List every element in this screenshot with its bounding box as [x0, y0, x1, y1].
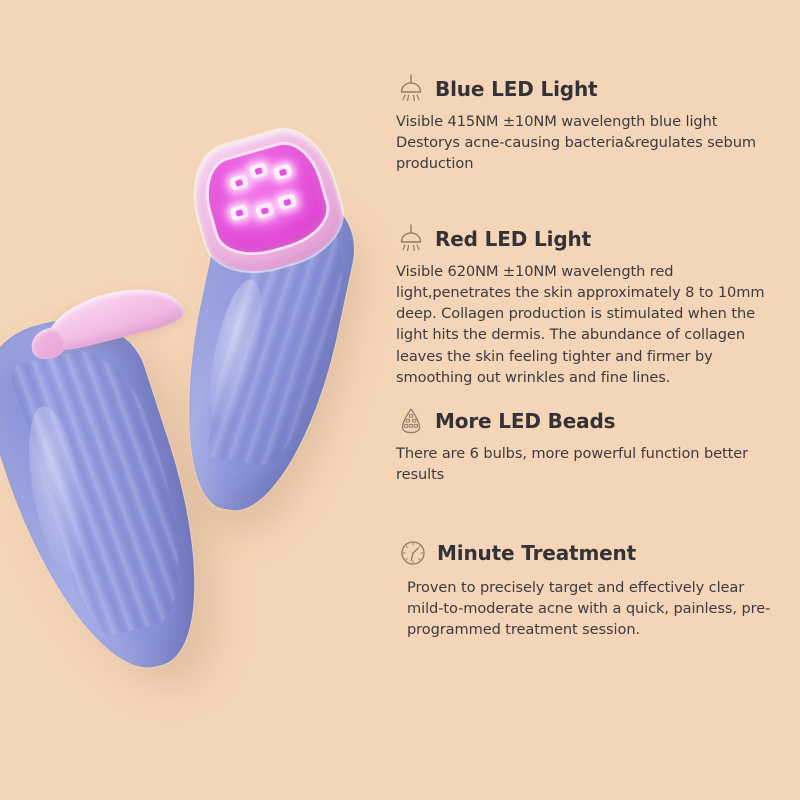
feature-item-blue-led-light: Blue LED Light Visible 415NM ±10NM wavel… [396, 72, 788, 174]
feature-item-red-led-light: Red LED Light Visible 620NM ±10NM wavele… [396, 222, 788, 388]
clock-icon [398, 537, 428, 569]
led-bead [229, 204, 249, 221]
feature-title: Minute Treatment [437, 541, 636, 565]
feature-item-more-led-beads: More LED Beads There are 6 bulbs, more p… [396, 404, 788, 485]
product-image-stage [0, 0, 380, 800]
feature-header: Minute Treatment [396, 536, 788, 570]
feature-description: Visible 620NM ±10NM wavelength red light… [396, 261, 774, 388]
led-bead [277, 193, 297, 210]
feature-header: More LED Beads [396, 404, 788, 438]
feature-title: Blue LED Light [435, 77, 597, 101]
feature-header: Red LED Light [396, 222, 788, 256]
feature-description: There are 6 bulbs, more powerful functio… [396, 443, 786, 485]
feature-title: More LED Beads [435, 409, 615, 433]
feature-list: Blue LED Light Visible 415NM ±10NM wavel… [396, 0, 800, 800]
infographic-page: Blue LED Light Visible 415NM ±10NM wavel… [0, 0, 800, 800]
feature-description: Visible 415NM ±10NM wavelength blue ligh… [396, 111, 766, 174]
led-bead [229, 174, 249, 191]
led-bead [249, 162, 269, 179]
feature-item-minute-treatment: Minute Treatment Proven to precisely tar… [396, 536, 788, 640]
feature-header: Blue LED Light [396, 72, 788, 106]
feature-description: Proven to precisely target and effective… [407, 577, 775, 640]
feature-title: Red LED Light [435, 227, 591, 251]
pendant-lamp-icon [396, 223, 426, 255]
pendant-lamp-icon [396, 73, 426, 105]
led-bead-head-icon [396, 405, 426, 437]
led-bead [273, 163, 293, 180]
product-device-front-view [175, 128, 360, 518]
led-bead [255, 202, 275, 219]
